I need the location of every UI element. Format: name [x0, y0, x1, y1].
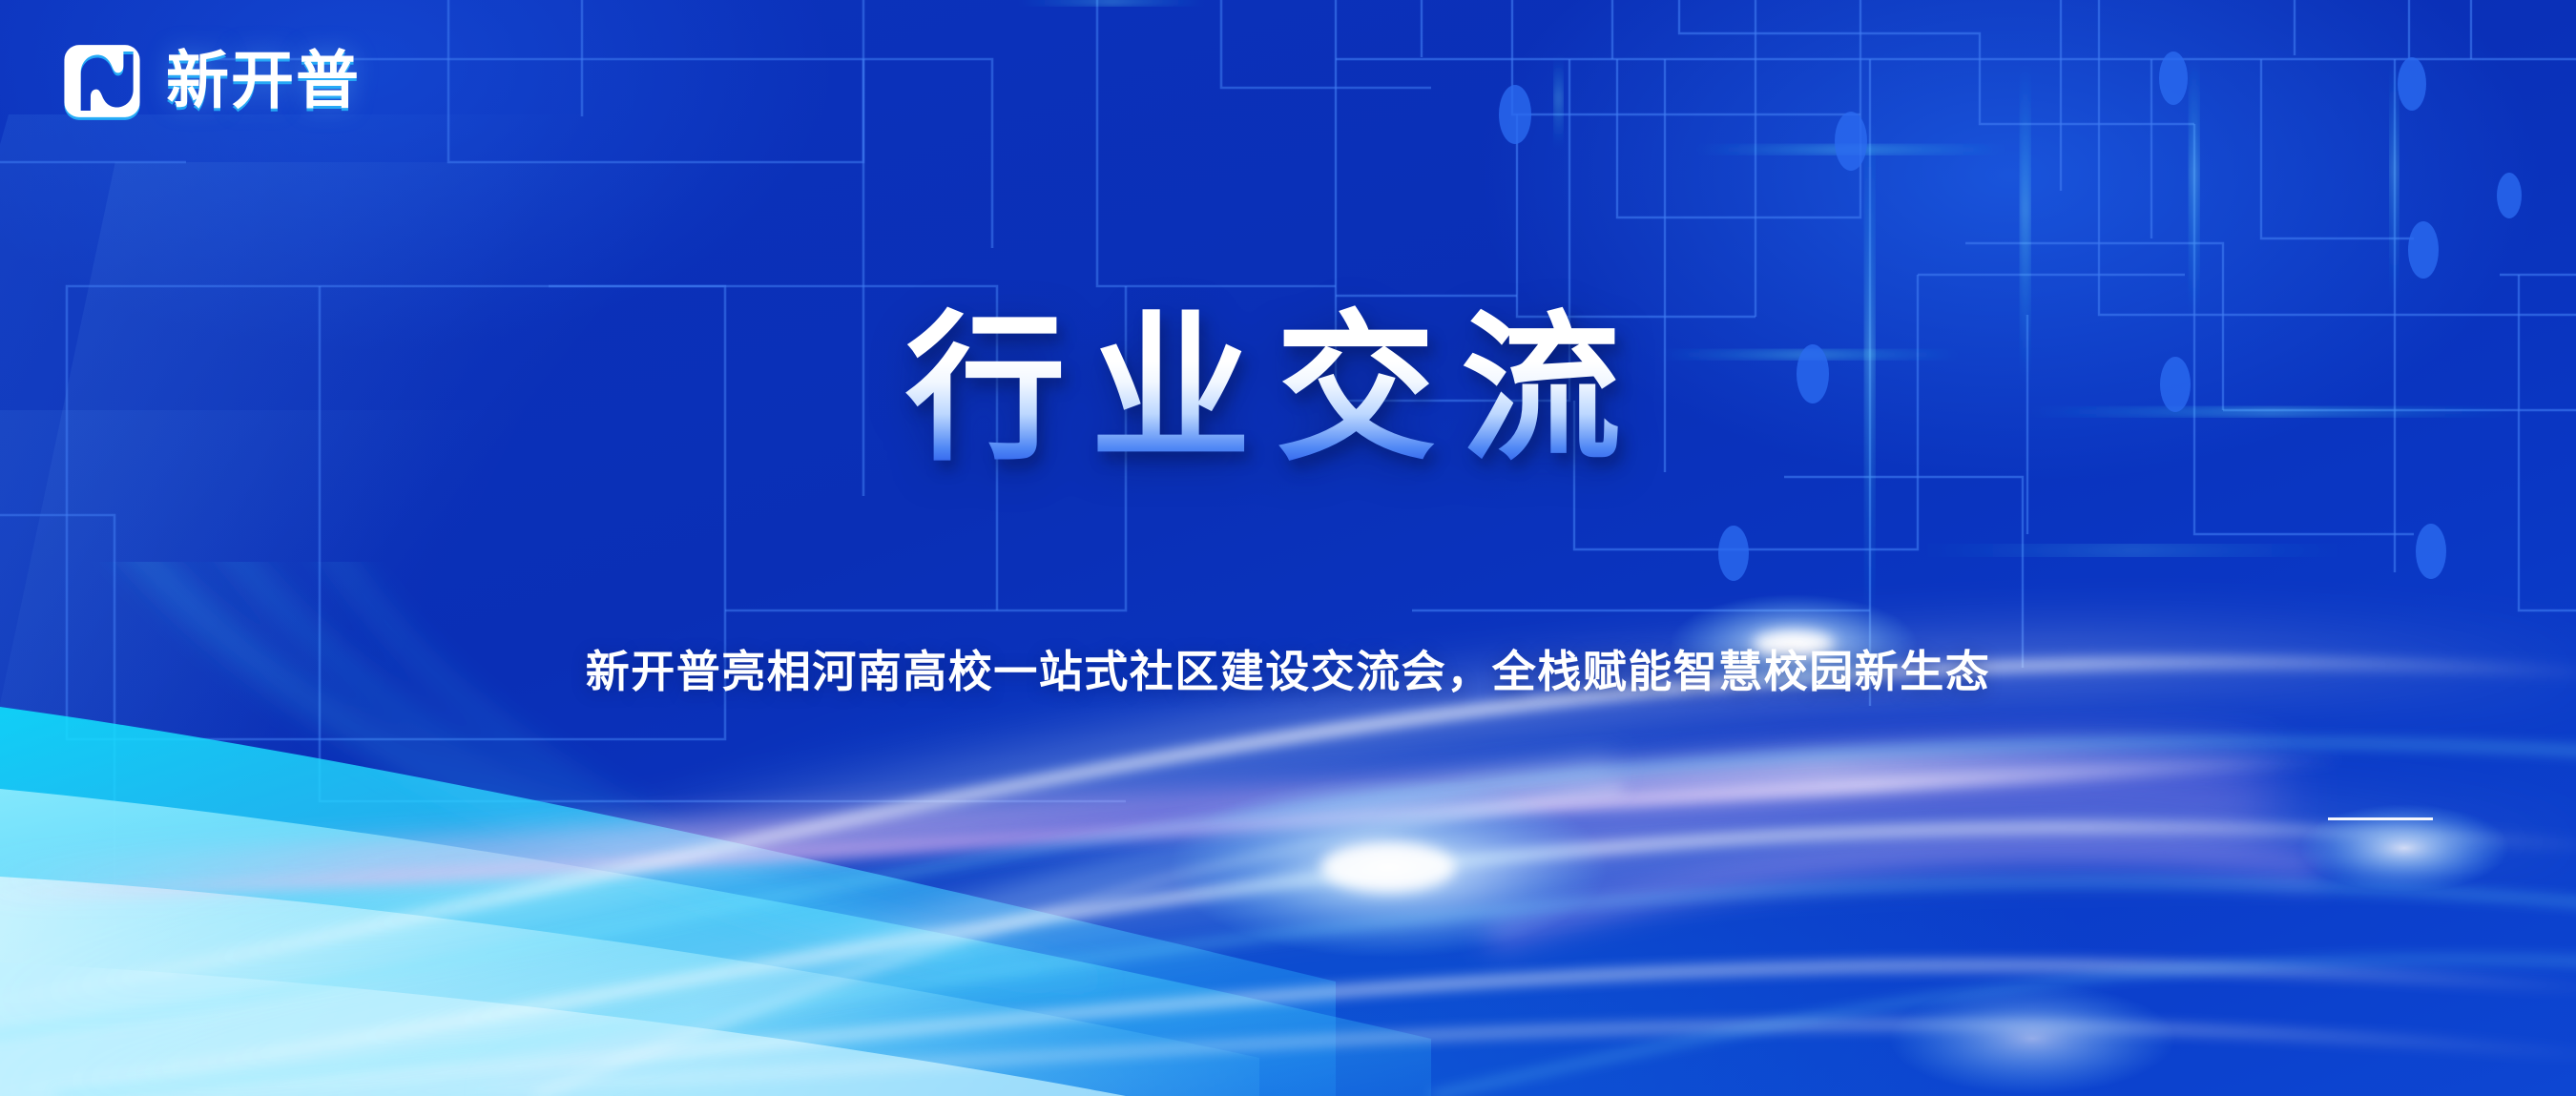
subtitle-container: 新开普亮相河南高校一站式社区建设交流会，全栈赋能智慧校园新生态 — [0, 645, 2576, 700]
circuit-pattern — [0, 0, 2576, 1096]
brand-name: 新开普 — [166, 50, 361, 113]
event-banner: 新开普 行业交流 行业交流 新开普亮相河南高校一站式社区建设交流会，全栈赋能智慧… — [0, 0, 2576, 1096]
newcapec-n-mark-icon — [61, 40, 143, 122]
background-swoosh-c — [0, 162, 726, 887]
background-swoosh-b — [0, 410, 1048, 1096]
page-title-container: 行业交流 — [0, 303, 2576, 476]
page-title: 行业交流 — [905, 303, 1671, 476]
subtitle: 新开普亮相河南高校一站式社区建设交流会，全栈赋能智慧校园新生态 — [586, 645, 1991, 700]
background-swoosh-a — [0, 114, 867, 973]
light-ribbon-artwork — [0, 562, 2576, 1096]
brand-logo[interactable]: 新开普 — [61, 40, 361, 122]
